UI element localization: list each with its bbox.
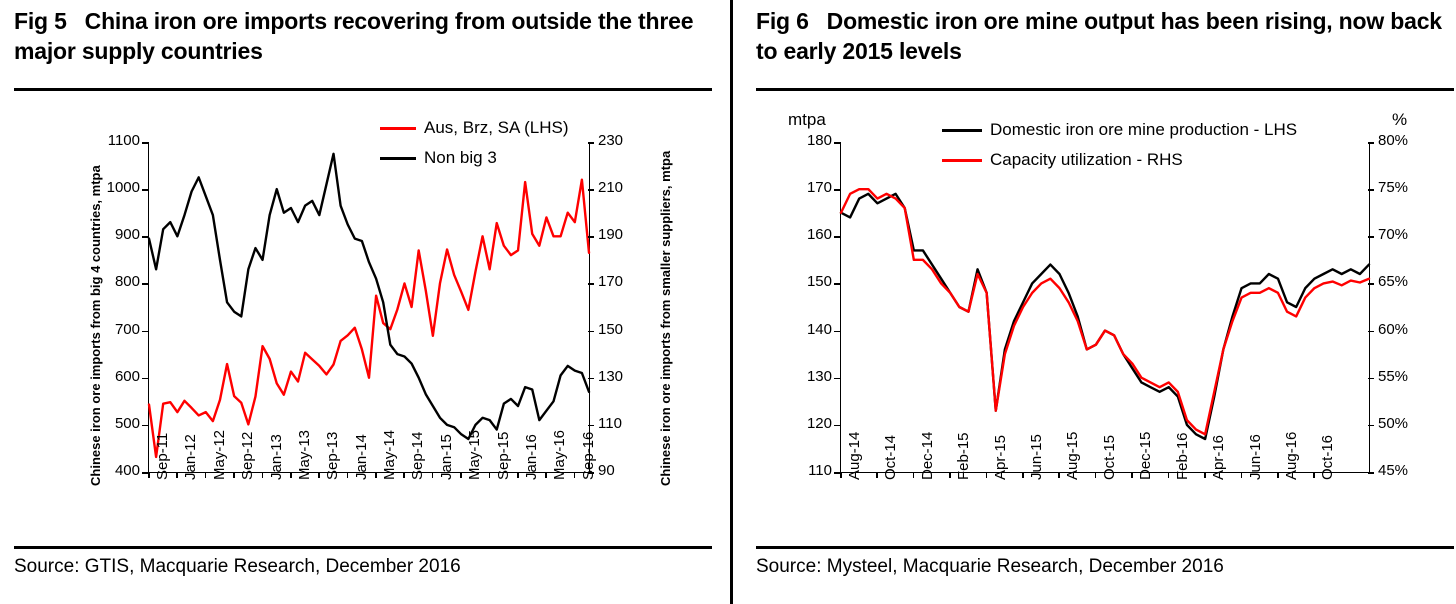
chart5-ytick-mark-left: [142, 283, 148, 285]
chart6-ytick-left: 160: [780, 226, 832, 243]
chart6-series-1: [841, 189, 1369, 434]
chart6-xtick: Apr-16: [1210, 435, 1227, 480]
chart5-xtick: Sep-14: [409, 432, 426, 480]
chart6-ytick-left: 110: [780, 462, 832, 479]
chart5-xtick: Jan-12: [182, 434, 199, 480]
chart6-xtick: Apr-15: [992, 435, 1009, 480]
figure-5-source: Source: GTIS, Macquarie Research, Decemb…: [14, 556, 461, 578]
figure-5-panel: Fig 5China iron ore imports recovering f…: [0, 0, 728, 604]
chart6-series-0: [841, 194, 1369, 439]
chart5-xtick: Jan-16: [523, 434, 540, 480]
chart5-xtick: Sep-13: [324, 432, 341, 480]
chart6-ytick-mark-left: [834, 331, 840, 333]
figure-5-label: Fig 5: [14, 8, 67, 34]
chart6-xtick-mark: [840, 472, 842, 478]
chart5-xtick: May-14: [381, 430, 398, 480]
figure-6-chart: 11012013014015016017018045%50%55%60%65%7…: [742, 96, 1456, 546]
chart6-xtick-mark: [1022, 472, 1024, 478]
chart5-xtick: Jan-15: [438, 434, 455, 480]
chart6-xtick-mark: [876, 472, 878, 478]
chart5-ytick-right: 110: [598, 415, 658, 432]
chart6-xtick-mark: [1277, 472, 1279, 478]
chart6-xtick: Jun-15: [1028, 434, 1045, 480]
chart6-xtick: Aug-16: [1283, 432, 1300, 480]
figure-6-title: Fig 6Domestic iron ore mine output has b…: [756, 6, 1456, 67]
chart6-ytick-mark-right: [1368, 236, 1374, 238]
chart6-ytick-right: 75%: [1378, 179, 1438, 196]
chart5-ytick-mark-right: [588, 189, 594, 191]
chart5-ytick-left: 1100: [88, 132, 140, 149]
chart6-xtick: Aug-14: [846, 432, 863, 480]
chart6-ytick-right: 80%: [1378, 132, 1438, 149]
chart6-xtick-mark: [1168, 472, 1170, 478]
figure-6-panel: Fig 6Domestic iron ore mine output has b…: [742, 0, 1456, 604]
chart5-ytick-mark-right: [588, 331, 594, 333]
chart5-ytick-mark-left: [142, 378, 148, 380]
chart6-xtick: Dec-15: [1137, 432, 1154, 480]
chart6-xtick-mark: [949, 472, 951, 478]
chart6-ytick-mark-right: [1368, 331, 1374, 333]
chart6-ytick-left: 150: [780, 273, 832, 290]
chart5-ytick-right: 230: [598, 132, 658, 149]
chart6-xtick: Aug-15: [1064, 432, 1081, 480]
figure-5-rule-bottom: [14, 546, 712, 549]
chart6-xtick: Feb-15: [955, 432, 972, 480]
chart5-xtick: Jan-14: [353, 434, 370, 480]
chart5-xtick: Sep-16: [580, 432, 597, 480]
figure-5-rule-top: [14, 88, 712, 91]
chart5-ytick-mark-right: [588, 283, 594, 285]
chart6-ytick-mark-right: [1368, 378, 1374, 380]
chart6-ytick-left: 170: [780, 179, 832, 196]
chart6-left-unit: mtpa: [788, 110, 826, 130]
chart6-ytick-mark-left: [834, 283, 840, 285]
chart5-ytick-right: 90: [598, 462, 658, 479]
chart5-ytick-right: 190: [598, 226, 658, 243]
chart5-xtick-mark: [148, 472, 150, 478]
chart6-xtick: Jun-16: [1247, 434, 1264, 480]
chart5-xtick-mark: [176, 472, 178, 478]
chart6-xtick-mark: [1241, 472, 1243, 478]
chart6-ytick-mark-left: [834, 236, 840, 238]
chart6-xtick: Oct-15: [1101, 435, 1118, 480]
chart6-xtick: Feb-16: [1174, 432, 1191, 480]
chart6-ytick-mark-left: [834, 425, 840, 427]
chart6-ytick-right: 50%: [1378, 415, 1438, 432]
chart6-ytick-mark-left: [834, 189, 840, 191]
chart6-xtick: Dec-14: [919, 432, 936, 480]
chart5-xtick-mark: [517, 472, 519, 478]
chart5-legend-label-0: Aus, Brz, SA (LHS): [424, 118, 569, 138]
chart5-ytick-right: 210: [598, 179, 658, 196]
chart5-xtick-mark: [375, 472, 377, 478]
chart6-legend-line-0: [942, 129, 982, 132]
chart5-ytick-mark-left: [142, 236, 148, 238]
chart5-ytick-mark-left: [142, 142, 148, 144]
chart5-right-axis-title: Chinese iron ore imports from smaller su…: [658, 151, 673, 486]
chart6-ytick-left: 180: [780, 132, 832, 149]
figure-6-rule-top: [756, 88, 1454, 91]
chart6-legend-label-1: Capacity utilization - RHS: [990, 150, 1183, 170]
figures-page: Fig 5China iron ore imports recovering f…: [0, 0, 1456, 604]
chart5-xtick: Sep-12: [239, 432, 256, 480]
chart5-xtick: Sep-15: [495, 432, 512, 480]
figure-5-title: Fig 5China iron ore imports recovering f…: [14, 6, 714, 67]
chart6-ytick-mark-right: [1368, 142, 1374, 144]
chart6-xtick-mark: [1095, 472, 1097, 478]
chart6-ytick-mark-right: [1368, 283, 1374, 285]
chart5-xtick-mark: [318, 472, 320, 478]
chart5-xtick-mark: [489, 472, 491, 478]
chart6-xtick-mark: [986, 472, 988, 478]
chart6-ytick-right: 65%: [1378, 273, 1438, 290]
chart6-ytick-mark-left: [834, 378, 840, 380]
chart5-xtick-mark: [460, 472, 462, 478]
chart5-ytick-mark-right: [588, 378, 594, 380]
chart6-xtick-mark: [1204, 472, 1206, 478]
chart6-xtick: Oct-16: [1319, 435, 1336, 480]
chart5-xtick-mark: [574, 472, 576, 478]
chart6-ytick-mark-right: [1368, 425, 1374, 427]
chart5-xtick-mark: [233, 472, 235, 478]
chart6-legend-label-0: Domestic iron ore mine production - LHS: [990, 120, 1297, 140]
chart6-ytick-right: 60%: [1378, 321, 1438, 338]
chart5-xtick-mark: [347, 472, 349, 478]
chart5-xtick-mark: [403, 472, 405, 478]
chart5-legend-label-1: Non big 3: [424, 148, 497, 168]
chart6-ytick-left: 130: [780, 368, 832, 385]
chart6-plot-area: [840, 142, 1370, 473]
chart5-xtick: May-15: [466, 430, 483, 480]
chart5-xtick-mark: [262, 472, 264, 478]
chart5-ytick-right: 130: [598, 368, 658, 385]
chart6-legend-line-1: [942, 159, 982, 162]
chart6-xtick-mark: [913, 472, 915, 478]
chart5-ytick-mark-right: [588, 425, 594, 427]
chart5-ytick-right: 170: [598, 273, 658, 290]
chart5-ytick-mark-right: [588, 236, 594, 238]
chart6-ytick-mark-left: [834, 142, 840, 144]
chart5-xtick-mark: [545, 472, 547, 478]
chart5-xtick: Jan-13: [268, 434, 285, 480]
chart6-ytick-right: 45%: [1378, 462, 1438, 479]
chart6-right-unit: %: [1392, 110, 1407, 130]
panel-divider: [730, 0, 733, 604]
chart6-ytick-right: 55%: [1378, 368, 1438, 385]
chart5-xtick-mark: [432, 472, 434, 478]
chart5-ytick-mark-left: [142, 331, 148, 333]
chart5-ytick-mark-left: [142, 189, 148, 191]
chart6-xtick-mark: [1313, 472, 1315, 478]
chart5-ytick-right: 150: [598, 321, 658, 338]
figure-6-title-text: Domestic iron ore mine output has been r…: [756, 8, 1442, 64]
chart5-plot-area: [148, 142, 590, 473]
chart6-xtick: Oct-14: [882, 435, 899, 480]
figure-6-rule-bottom: [756, 546, 1454, 549]
figure-5-title-text: China iron ore imports recovering from o…: [14, 8, 693, 64]
chart5-xtick: May-12: [211, 430, 228, 480]
chart5-ytick-mark-left: [142, 425, 148, 427]
chart5-xtick: May-13: [296, 430, 313, 480]
chart5-xtick: Sep-11: [154, 433, 171, 480]
figure-6-source: Source: Mysteel, Macquarie Research, Dec…: [756, 556, 1224, 578]
chart5-xtick-mark: [205, 472, 207, 478]
chart5-legend-line-1: [380, 157, 416, 160]
chart6-ytick-mark-right: [1368, 472, 1374, 474]
chart6-ytick-left: 140: [780, 321, 832, 338]
chart5-legend-line-0: [380, 127, 416, 130]
figure-5-chart: 4005006007008009001000110090110130150170…: [0, 96, 728, 546]
chart6-ytick-left: 120: [780, 415, 832, 432]
chart5-left-axis-title: Chinese iron ore imports from big 4 coun…: [88, 165, 103, 486]
chart5-xtick-mark: [290, 472, 292, 478]
chart5-xtick: May-16: [551, 430, 568, 480]
chart6-ytick-right: 70%: [1378, 226, 1438, 243]
chart6-xtick-mark: [1131, 472, 1133, 478]
figure-6-label: Fig 6: [756, 8, 809, 34]
chart6-ytick-mark-right: [1368, 189, 1374, 191]
chart5-ytick-mark-right: [588, 142, 594, 144]
chart6-xtick-mark: [1058, 472, 1060, 478]
